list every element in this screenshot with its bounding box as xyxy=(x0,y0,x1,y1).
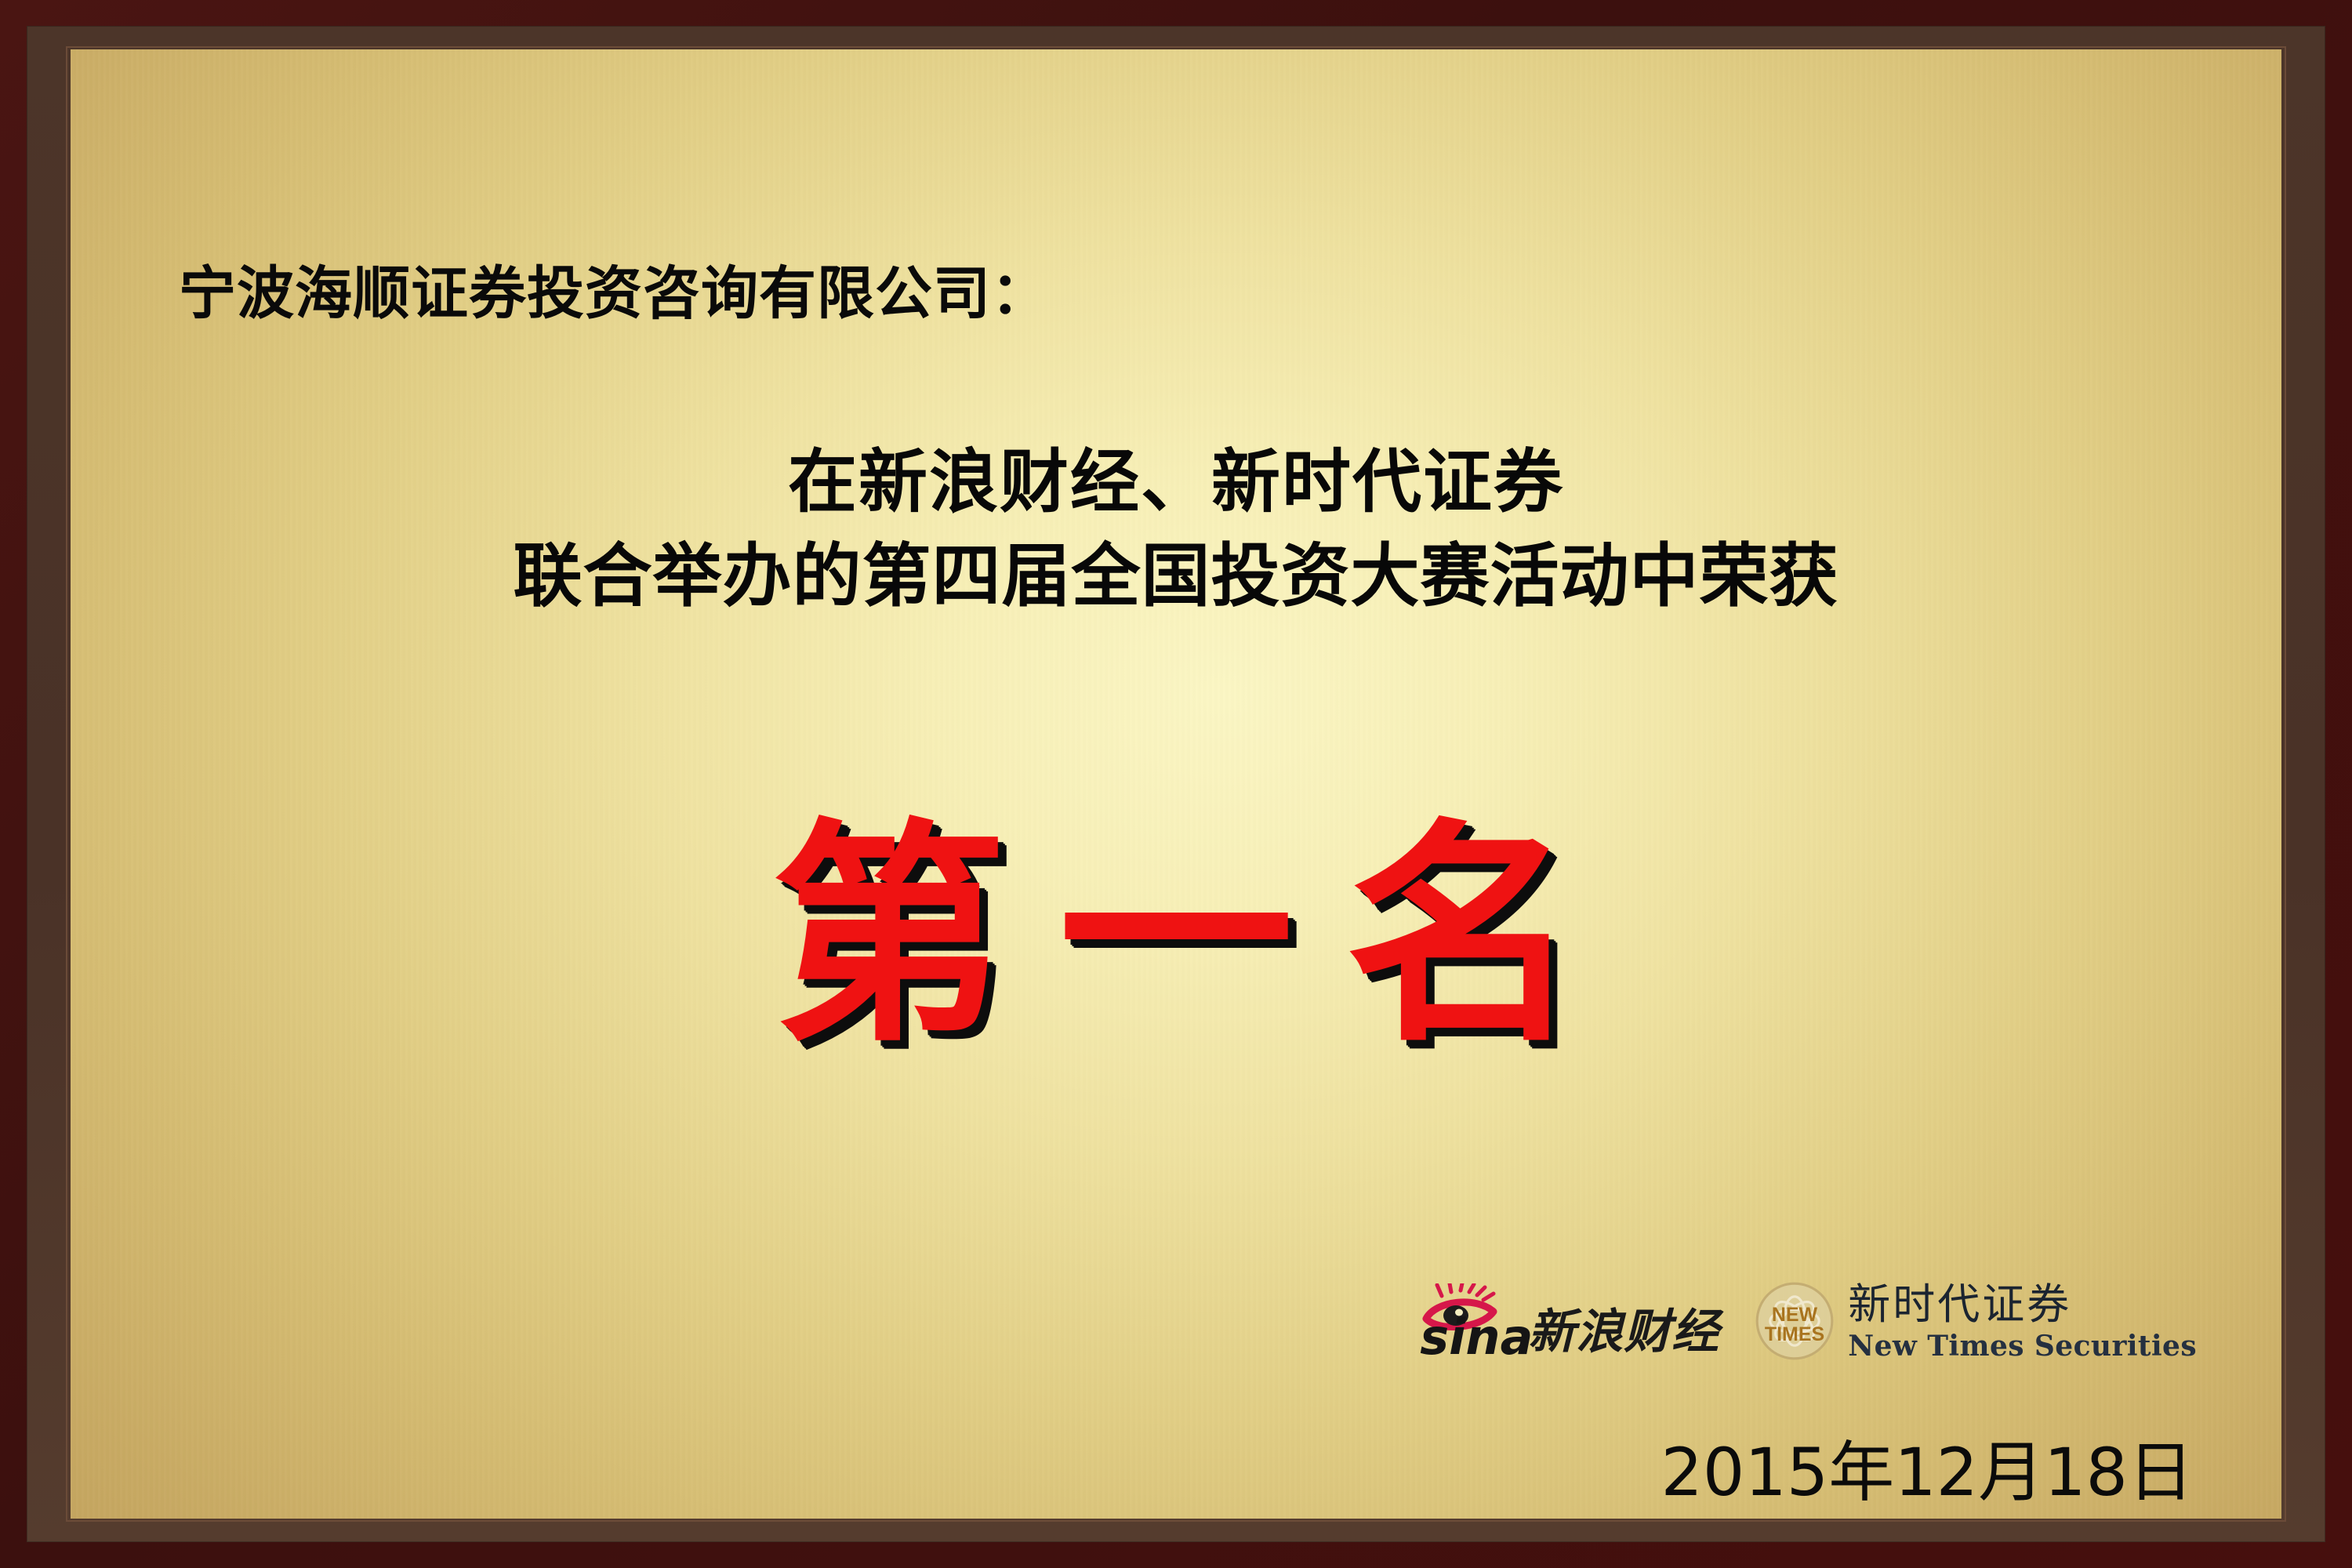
award-date: 2015年12月18日 xyxy=(1661,1420,2194,1515)
emblem-text-times: TIMES xyxy=(1765,1323,1824,1345)
citation-line-2: 联合举办的第四届全国投资大赛活动中荣获 xyxy=(71,535,2281,617)
gold-panel: 宁波海顺证券投资咨询有限公司： 在新浪财经、新时代证券 联合举办的第四届全国投资… xyxy=(71,49,2281,1519)
new-times-emblem-icon: NEW TIMES xyxy=(1754,1280,1835,1362)
sina-finance-logo: sina 新浪财经 xyxy=(1418,1283,1719,1359)
emblem-text-new: NEW xyxy=(1772,1304,1818,1326)
panel-content: 宁波海顺证券投资咨询有限公司： 在新浪财经、新时代证券 联合举办的第四届全国投资… xyxy=(71,49,2281,1519)
new-times-securities-logo: NEW TIMES 新时代证券 New Times Securities xyxy=(1754,1280,2197,1362)
plaque-wood-frame: 宁波海顺证券投资咨询有限公司： 在新浪财经、新时代证券 联合举办的第四届全国投资… xyxy=(27,26,2325,1542)
award-plaque: 宁波海顺证券投资咨询有限公司： 在新浪财经、新时代证券 联合举办的第四届全国投资… xyxy=(0,0,2352,1568)
sponsor-logo-row: sina 新浪财经 xyxy=(1418,1280,2197,1362)
citation-line-1: 在新浪财经、新时代证券 xyxy=(71,441,2281,523)
new-times-english-name: New Times Securities xyxy=(1848,1332,2197,1360)
sina-mark: sina xyxy=(1418,1283,1519,1359)
sina-wordmark: sina xyxy=(1420,1313,1533,1362)
recipient-salutation: 宁波海顺证券投资咨询有限公司： xyxy=(179,247,1049,330)
new-times-text-block: 新时代证券 New Times Securities xyxy=(1848,1282,2197,1359)
sina-chinese-name: 新浪财经 xyxy=(1528,1308,1719,1359)
new-times-chinese-name: 新时代证券 xyxy=(1848,1282,2197,1327)
award-rank-title: 第一名 xyxy=(71,806,2281,1065)
citation-body: 在新浪财经、新时代证券 联合举办的第四届全国投资大赛活动中荣获 xyxy=(71,441,2281,617)
